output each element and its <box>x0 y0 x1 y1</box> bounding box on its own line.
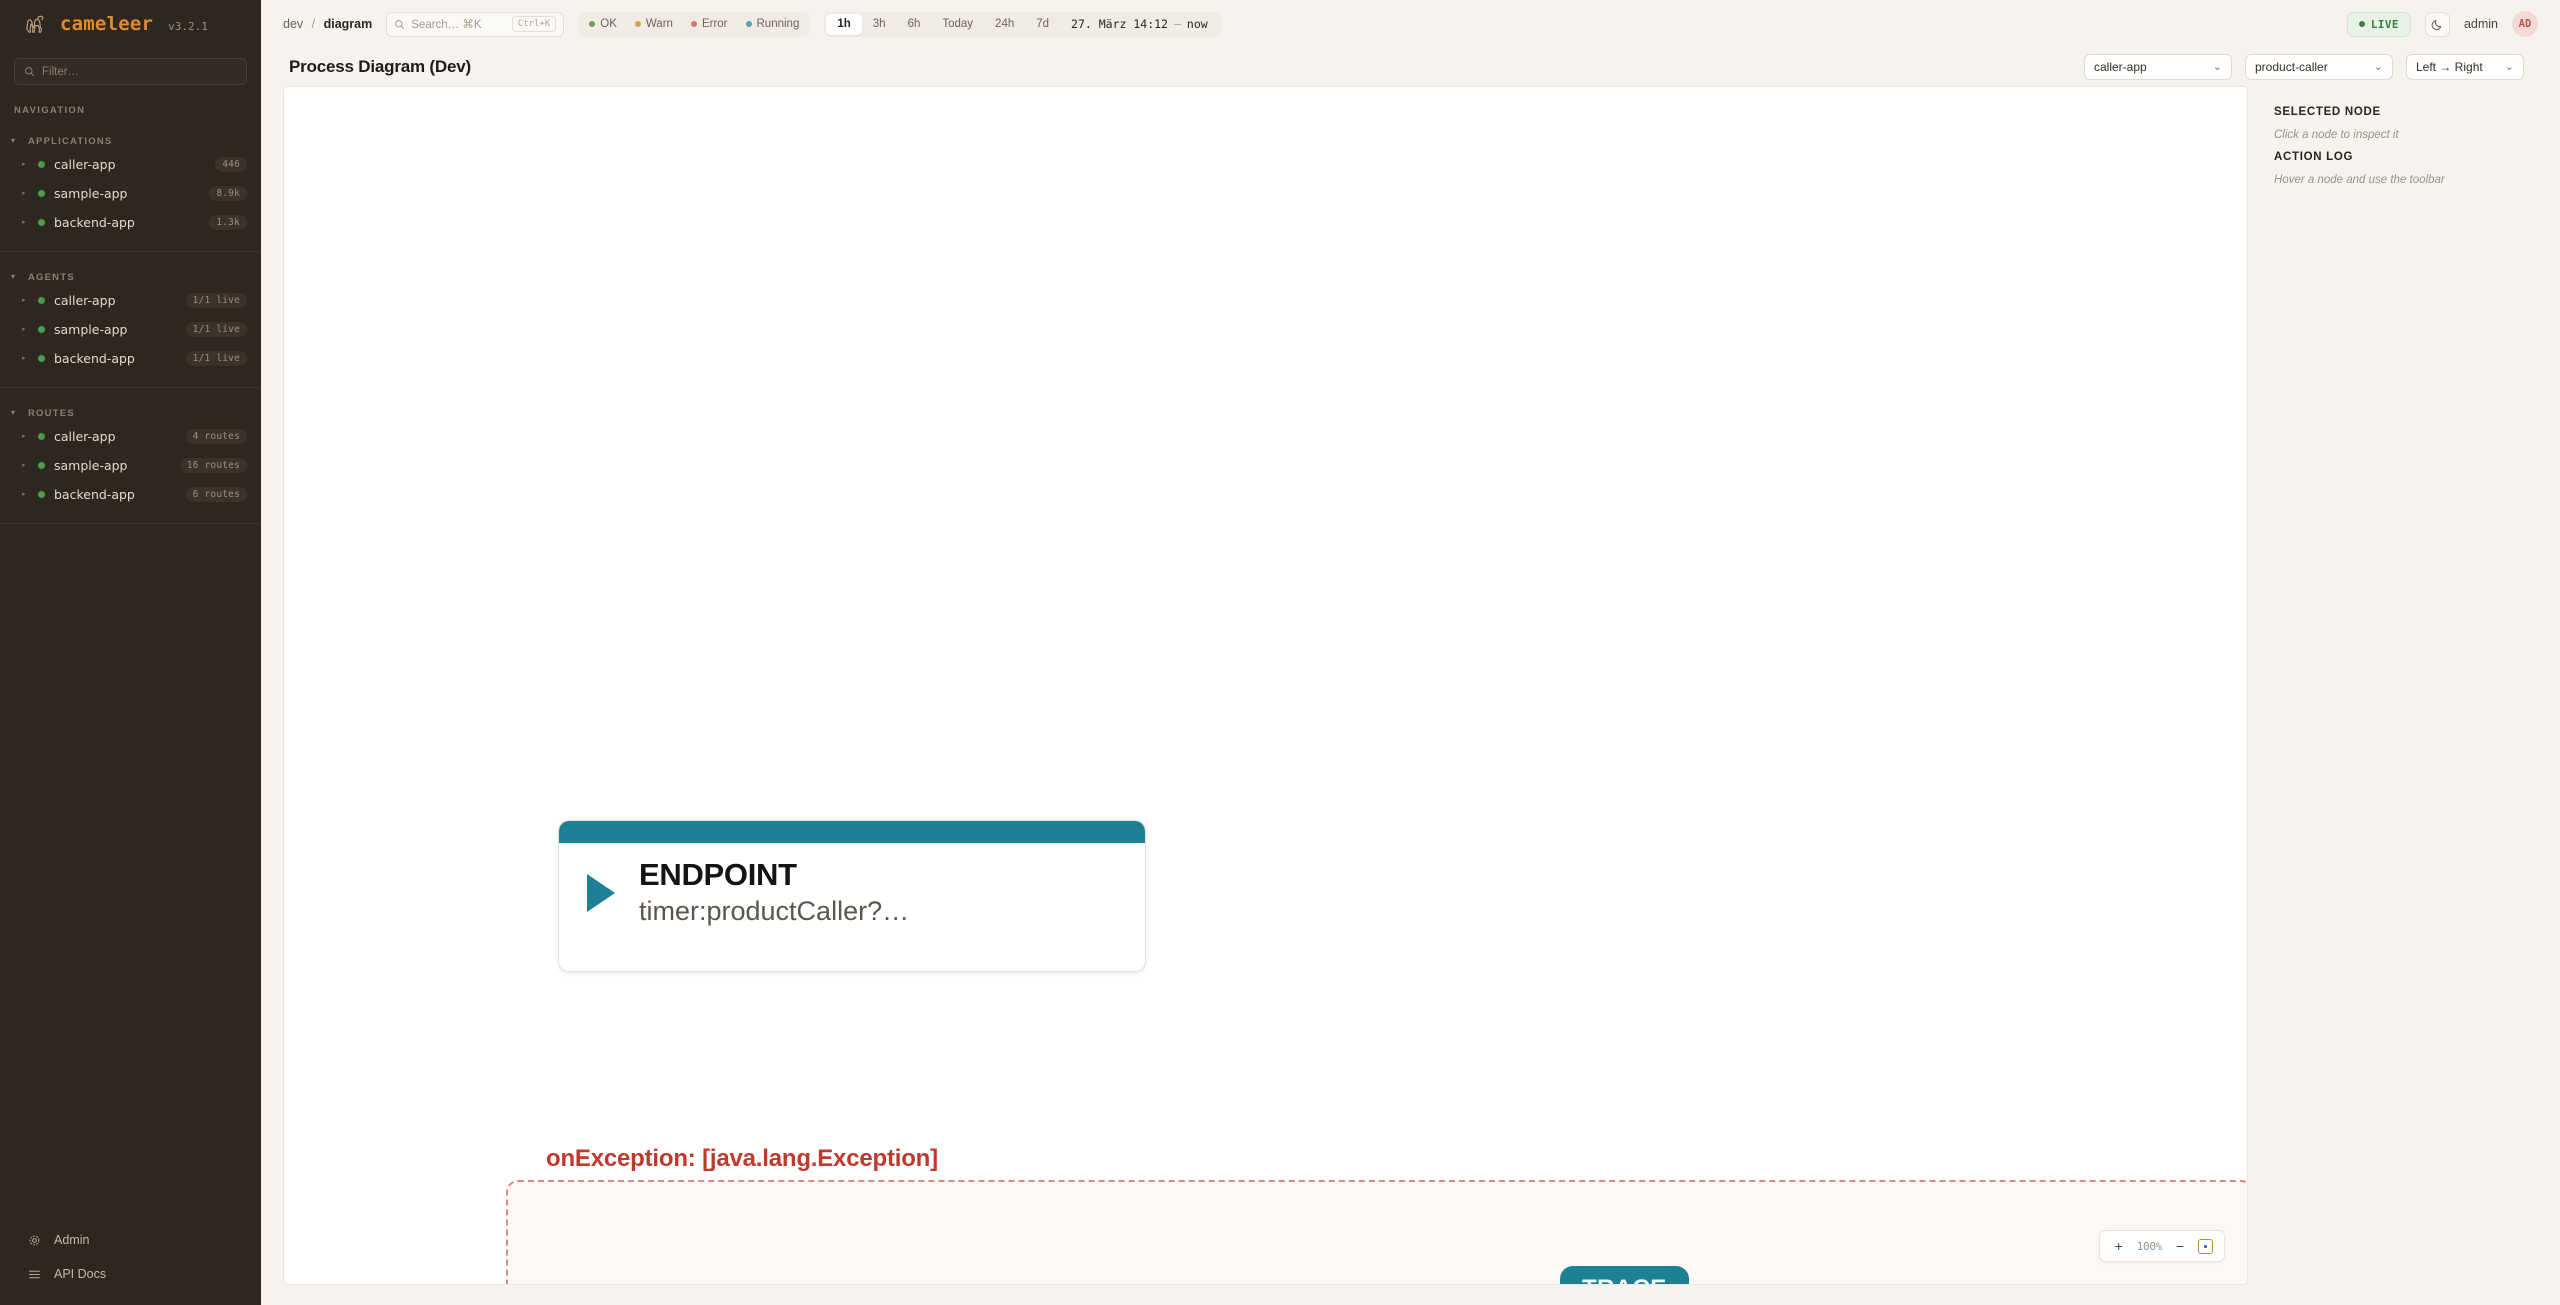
direction-select-value: Left → Right <box>2416 60 2496 74</box>
avatar[interactable]: AD <box>2512 11 2538 37</box>
user-name: admin <box>2464 17 2498 31</box>
chevron-right-icon: ▸ <box>22 219 29 226</box>
sidebar-item-applications-sample-app[interactable]: ▸ sample-app 8.9k <box>0 179 261 208</box>
status-filter-running[interactable]: Running <box>737 14 809 35</box>
topbar: dev / diagram Search… ⌘K Ctrl+K OK Warn <box>261 0 2560 48</box>
direction-select[interactable]: Left → Right ⌄ <box>2406 54 2524 80</box>
node-uri: timer:productCaller?… <box>639 895 909 927</box>
page-title: Process Diagram (Dev) <box>289 57 471 77</box>
sidebar-item-api-docs[interactable]: API Docs <box>0 1257 261 1291</box>
play-triangle-icon <box>587 874 615 912</box>
status-filter-group: OK Warn Error Running <box>578 12 810 37</box>
time-range-label: 3h <box>873 18 886 30</box>
status-dot <box>38 161 45 168</box>
status-dot <box>38 355 45 362</box>
status-dot <box>38 190 45 197</box>
live-label: LIVE <box>2371 18 2399 31</box>
chevron-down-icon: ▾ <box>11 409 18 417</box>
time-range-7d[interactable]: 7d <box>1025 14 1060 35</box>
time-range-6h[interactable]: 6h <box>897 14 932 35</box>
item-badge: 1/1 live <box>186 322 247 337</box>
sidebar-footer: Admin API Docs <box>0 1223 261 1305</box>
fit-to-screen-icon <box>2198 1239 2213 1254</box>
selected-node-title: SELECTED NODE <box>2274 106 2522 118</box>
sidebar-divider <box>0 251 261 252</box>
status-dot <box>38 326 45 333</box>
status-dot <box>2359 21 2365 27</box>
chevron-right-icon: ▸ <box>22 491 29 498</box>
exception-region: TRACE <box>506 1180 2248 1285</box>
time-range-readout[interactable]: 27. März 14:12—now <box>1060 17 1219 31</box>
status-filter-label: OK <box>600 18 617 30</box>
group-label: APPLICATIONS <box>28 136 112 147</box>
status-filter-error[interactable]: Error <box>682 14 737 35</box>
zoom-in-button[interactable]: + <box>2108 1235 2130 1257</box>
item-badge: 446 <box>215 157 247 172</box>
zoom-out-button[interactable]: − <box>2169 1235 2191 1257</box>
chevron-down-icon: ⌄ <box>2505 62 2514 73</box>
item-badge: 8.9k <box>209 186 247 201</box>
chevron-down-icon: ▾ <box>11 273 18 281</box>
item-badge: 1/1 live <box>186 351 247 366</box>
action-log-hint: Hover a node and use the toolbar <box>2274 174 2522 186</box>
time-dash: — <box>1174 17 1181 31</box>
item-label: sample-app <box>54 458 171 473</box>
page-header: Process Diagram (Dev) caller-app ⌄ produ… <box>261 48 2560 86</box>
status-dot <box>589 21 595 27</box>
chevron-right-icon: ▸ <box>22 462 29 469</box>
diagram-node-endpoint[interactable]: ENDPOINT timer:productCaller?… <box>558 820 1146 972</box>
search-placeholder: Search… ⌘K <box>411 17 505 31</box>
status-dot <box>38 491 45 498</box>
group-header-agents[interactable]: ▾ AGENTS <box>0 268 261 286</box>
zoom-controls: + 100% − <box>2099 1230 2225 1262</box>
sidebar-group-agents: ▾ AGENTS ▸ caller-app 1/1 live ▸ sample-… <box>0 268 261 373</box>
theme-toggle-button[interactable] <box>2425 12 2450 37</box>
item-badge: 1/1 live <box>186 293 247 308</box>
sidebar-footer-label: API Docs <box>54 1267 106 1281</box>
sidebar-group-routes: ▾ ROUTES ▸ caller-app 4 routes ▸ sample-… <box>0 404 261 509</box>
status-dot <box>38 219 45 226</box>
search-icon <box>394 19 405 30</box>
status-dot <box>38 297 45 304</box>
global-search[interactable]: Search… ⌘K Ctrl+K <box>386 12 564 37</box>
sidebar-group-applications: ▾ APPLICATIONS ▸ caller-app 446 ▸ sample… <box>0 132 261 237</box>
item-label: backend-app <box>54 351 177 366</box>
node-kind: ENDPOINT <box>639 858 909 892</box>
application-select-value: caller-app <box>2094 60 2204 74</box>
status-filter-label: Warn <box>646 18 673 30</box>
sidebar-footer-label: Admin <box>54 1233 89 1247</box>
time-range-label: 7d <box>1036 18 1049 30</box>
item-badge: 6 routes <box>186 487 247 502</box>
node-text: ENDPOINT timer:productCaller?… <box>639 858 909 927</box>
status-filter-ok[interactable]: OK <box>580 14 626 35</box>
chevron-down-icon: ⌄ <box>2374 62 2383 73</box>
breadcrumb-current: diagram <box>324 17 373 31</box>
sidebar-item-routes-backend-app[interactable]: ▸ backend-app 6 routes <box>0 480 261 509</box>
status-filter-warn[interactable]: Warn <box>626 14 682 35</box>
brand-logo-area[interactable]: cameleer v3.2.1 <box>0 0 261 48</box>
application-select[interactable]: caller-app ⌄ <box>2084 54 2232 80</box>
status-dot <box>746 21 752 27</box>
sidebar-item-admin[interactable]: Admin <box>0 1223 261 1257</box>
time-from: 27. März 14:12 <box>1071 17 1168 31</box>
time-range-24h[interactable]: 24h <box>984 14 1025 35</box>
time-range-label: Today <box>942 18 973 30</box>
time-range-3h[interactable]: 3h <box>862 14 897 35</box>
chevron-right-icon: ▸ <box>22 326 29 333</box>
sidebar: cameleer v3.2.1 NAVIGATION ▾ APPLICATION… <box>0 0 261 1305</box>
status-dot <box>635 21 641 27</box>
list-icon <box>28 1268 41 1281</box>
route-select-value: product-caller <box>2255 60 2365 74</box>
breadcrumb-separator: / <box>312 17 315 31</box>
status-filter-label: Running <box>757 18 800 30</box>
breadcrumb: dev / diagram <box>283 17 372 31</box>
item-label: caller-app <box>54 293 177 308</box>
node-header-bar <box>559 821 1145 843</box>
exception-handler-label: onException: [java.lang.Exception] <box>546 1145 938 1173</box>
sidebar-item-agents-sample-app[interactable]: ▸ sample-app 1/1 live <box>0 315 261 344</box>
item-label: backend-app <box>54 487 177 502</box>
selected-node-hint: Click a node to inspect it <box>2274 129 2522 141</box>
chevron-right-icon: ▸ <box>22 433 29 440</box>
camel-icon <box>22 11 48 37</box>
chevron-right-icon: ▸ <box>22 161 29 168</box>
gear-icon <box>28 1234 41 1247</box>
nav-section-title: NAVIGATION <box>0 85 261 116</box>
fit-to-screen-button[interactable] <box>2194 1235 2216 1257</box>
brand-version: v3.2.1 <box>168 16 208 33</box>
group-header-routes[interactable]: ▾ ROUTES <box>0 404 261 422</box>
group-header-applications[interactable]: ▾ APPLICATIONS <box>0 132 261 150</box>
node-body: ENDPOINT timer:productCaller?… <box>559 843 1145 927</box>
time-range-label: 24h <box>995 18 1014 30</box>
status-filter-label: Error <box>702 18 728 30</box>
chevron-right-icon: ▸ <box>22 190 29 197</box>
status-dot <box>38 462 45 469</box>
inspector-panel: SELECTED NODE Click a node to inspect it… <box>2248 86 2546 1305</box>
search-shortcut-badge: Ctrl+K <box>512 16 557 32</box>
item-badge: 1.3k <box>209 215 247 230</box>
item-label: caller-app <box>54 429 177 444</box>
action-log-title: ACTION LOG <box>2274 151 2522 163</box>
moon-icon <box>2431 18 2444 31</box>
chevron-right-icon: ▸ <box>22 355 29 362</box>
main-area: dev / diagram Search… ⌘K Ctrl+K OK Warn <box>261 0 2560 1305</box>
item-badge: 16 routes <box>180 458 247 473</box>
group-label: AGENTS <box>28 272 75 283</box>
status-dot <box>691 21 697 27</box>
time-range-group: 1h 3h 6h Today 24h 7d 27. März 14:12—now <box>824 12 1220 37</box>
time-range-label: 1h <box>837 18 850 30</box>
item-label: sample-app <box>54 186 200 201</box>
route-select[interactable]: product-caller ⌄ <box>2245 54 2393 80</box>
chevron-down-icon: ▾ <box>11 137 18 145</box>
time-range-label: 6h <box>908 18 921 30</box>
diagram-canvas[interactable]: ENDPOINT timer:productCaller?… onExcepti… <box>283 86 2248 1285</box>
live-status-badge[interactable]: LIVE <box>2347 12 2411 37</box>
breadcrumb-root[interactable]: dev <box>283 17 303 31</box>
item-label: backend-app <box>54 215 200 230</box>
content-area: ENDPOINT timer:productCaller?… onExcepti… <box>261 86 2560 1305</box>
item-badge: 4 routes <box>186 429 247 444</box>
search-icon <box>24 66 35 77</box>
item-label: sample-app <box>54 322 177 337</box>
time-to: now <box>1187 17 1208 31</box>
group-label: ROUTES <box>28 408 75 419</box>
sidebar-item-agents-caller-app[interactable]: ▸ caller-app 1/1 live <box>0 286 261 315</box>
time-range-1h[interactable]: 1h <box>826 14 861 35</box>
sidebar-item-agents-backend-app[interactable]: ▸ backend-app 1/1 live <box>0 344 261 373</box>
sidebar-filter <box>0 48 261 85</box>
sidebar-divider <box>0 387 261 388</box>
diagram-controls: caller-app ⌄ product-caller ⌄ Left → Rig… <box>2084 54 2524 80</box>
sidebar-filter-box[interactable] <box>14 58 247 85</box>
zoom-level: 100% <box>2133 1240 2166 1253</box>
sidebar-item-applications-caller-app[interactable]: ▸ caller-app 446 <box>0 150 261 179</box>
time-range-today[interactable]: Today <box>931 14 984 35</box>
status-dot <box>38 433 45 440</box>
sidebar-item-routes-caller-app[interactable]: ▸ caller-app 4 routes <box>0 422 261 451</box>
brand-name: cameleer <box>60 13 153 35</box>
sidebar-item-routes-sample-app[interactable]: ▸ sample-app 16 routes <box>0 451 261 480</box>
chevron-right-icon: ▸ <box>22 297 29 304</box>
sidebar-divider <box>0 523 261 524</box>
sidebar-filter-input[interactable] <box>42 66 237 78</box>
item-label: caller-app <box>54 157 206 172</box>
chevron-down-icon: ⌄ <box>2213 62 2222 73</box>
trace-badge[interactable]: TRACE <box>1560 1266 1689 1285</box>
sidebar-item-applications-backend-app[interactable]: ▸ backend-app 1.3k <box>0 208 261 237</box>
